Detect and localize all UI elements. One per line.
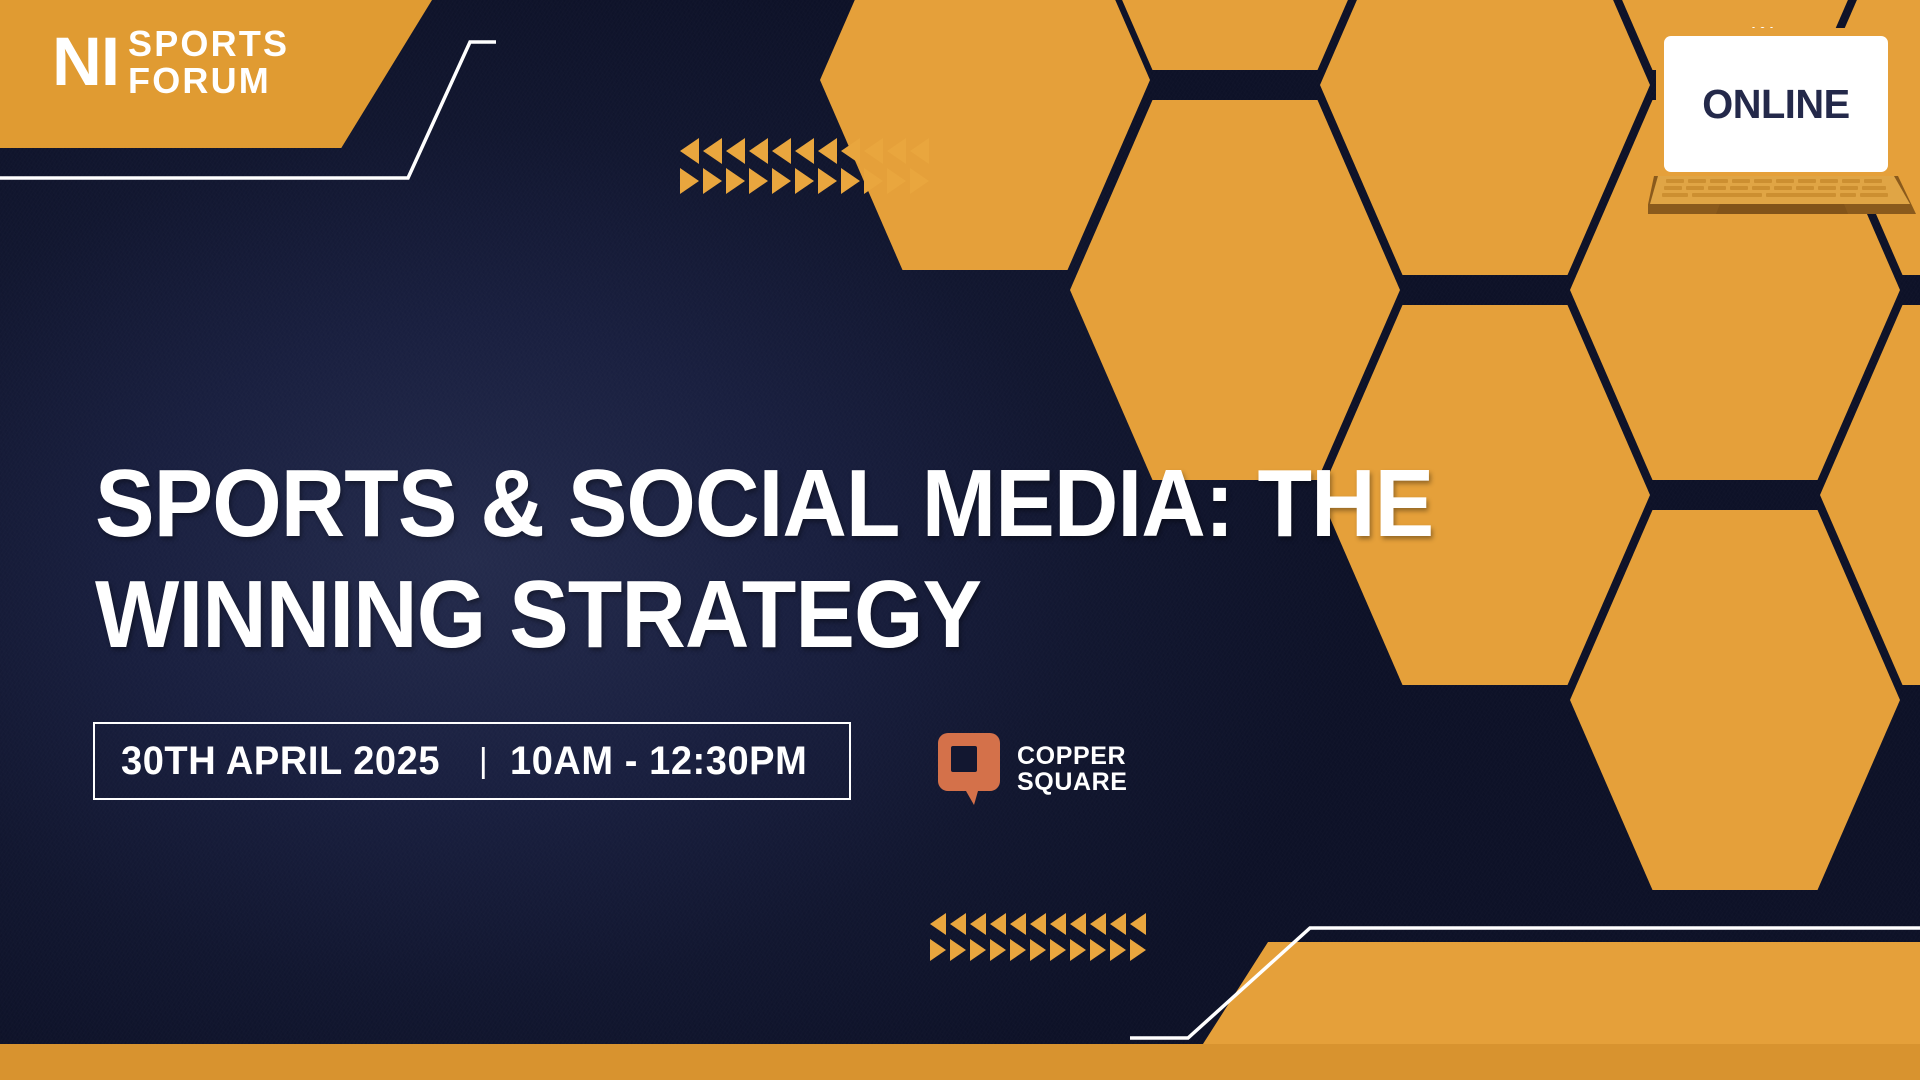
triangle-row-left xyxy=(930,913,1150,935)
logo-sports-text: SPORTS xyxy=(128,26,289,63)
bottom-angled-line-icon xyxy=(1130,920,1920,1052)
datetime-separator: | xyxy=(457,742,510,781)
triangle-right-icon xyxy=(749,168,768,194)
copper-square-wordmark: COPPER SQUARE xyxy=(1017,743,1128,796)
triangle-left-icon xyxy=(887,138,906,164)
triangle-left-icon xyxy=(772,138,791,164)
triangle-left-icon xyxy=(1070,913,1086,935)
triangle-right-icon xyxy=(1010,939,1026,961)
logo-ni-text: NI xyxy=(52,30,119,93)
triangle-left-icon xyxy=(749,138,768,164)
triangle-right-icon xyxy=(864,168,883,194)
triangle-right-icon xyxy=(950,939,966,961)
triangle-left-icon xyxy=(910,138,929,164)
headline-line-2: WINNING STRATEGY xyxy=(95,559,1527,670)
triangle-right-icon xyxy=(887,168,906,194)
triangle-row-right xyxy=(930,939,1150,961)
copper-square-logo[interactable]: COPPER SQUARE xyxy=(938,733,1128,805)
triangle-right-icon xyxy=(703,168,722,194)
triangle-right-icon xyxy=(1130,939,1146,961)
triangle-right-icon xyxy=(990,939,1006,961)
triangle-left-icon xyxy=(1130,913,1146,935)
speech-bubble-square-icon xyxy=(938,733,1000,805)
triangle-left-icon xyxy=(726,138,745,164)
triangle-left-icon xyxy=(818,138,837,164)
triangle-right-icon xyxy=(930,939,946,961)
event-time: 10AM - 12:30PM xyxy=(510,739,807,784)
triangle-right-icon xyxy=(680,168,699,194)
triangle-cluster-bottom-icon xyxy=(930,913,1150,961)
triangle-left-icon xyxy=(864,138,883,164)
triangle-right-icon xyxy=(726,168,745,194)
page-title: SPORTS & SOCIAL MEDIA: THE WINNING STRAT… xyxy=(95,448,1635,671)
triangle-left-icon xyxy=(1010,913,1026,935)
triangle-right-icon xyxy=(795,168,814,194)
triangle-cluster-top-icon xyxy=(680,138,933,194)
triangle-row-right xyxy=(680,168,933,194)
triangle-right-icon xyxy=(1110,939,1126,961)
headline-line-1: SPORTS & SOCIAL MEDIA: THE xyxy=(95,448,1527,559)
triangle-left-icon xyxy=(1030,913,1046,935)
copper-text: COPPER xyxy=(1017,743,1128,769)
triangle-left-icon xyxy=(680,138,699,164)
triangle-right-icon xyxy=(841,168,860,194)
triangle-left-icon xyxy=(1090,913,1106,935)
triangle-left-icon xyxy=(970,913,986,935)
event-datetime-box: 30TH APRIL 2025 | 10AM - 12:30PM xyxy=(93,722,851,800)
event-date: 30TH APRIL 2025 xyxy=(121,739,440,784)
triangle-left-icon xyxy=(703,138,722,164)
event-promo-poster: NI SPORTS FORUM xyxy=(0,0,1920,1080)
triangle-left-icon xyxy=(1050,913,1066,935)
ni-sports-forum-logo[interactable]: NI SPORTS FORUM xyxy=(52,24,289,99)
triangle-left-icon xyxy=(795,138,814,164)
triangle-right-icon xyxy=(910,168,929,194)
triangle-left-icon xyxy=(930,913,946,935)
triangle-right-icon xyxy=(1090,939,1106,961)
triangle-left-icon xyxy=(1110,913,1126,935)
triangle-left-icon xyxy=(841,138,860,164)
logo-forum-text: FORUM xyxy=(128,63,289,100)
square-text: SQUARE xyxy=(1017,769,1128,795)
triangle-right-icon xyxy=(970,939,986,961)
online-laptop-icon: ONLINE xyxy=(1648,18,1916,233)
triangle-left-icon xyxy=(990,913,1006,935)
triangle-row-left xyxy=(680,138,933,164)
online-badge-label: ONLINE xyxy=(1702,81,1849,128)
triangle-right-icon xyxy=(1030,939,1046,961)
laptop-screen: ONLINE xyxy=(1664,36,1888,172)
triangle-right-icon xyxy=(1070,939,1086,961)
triangle-right-icon xyxy=(1050,939,1066,961)
triangle-right-icon xyxy=(818,168,837,194)
triangle-left-icon xyxy=(950,913,966,935)
triangle-right-icon xyxy=(772,168,791,194)
logo-wordmark: SPORTS FORUM xyxy=(128,24,289,99)
